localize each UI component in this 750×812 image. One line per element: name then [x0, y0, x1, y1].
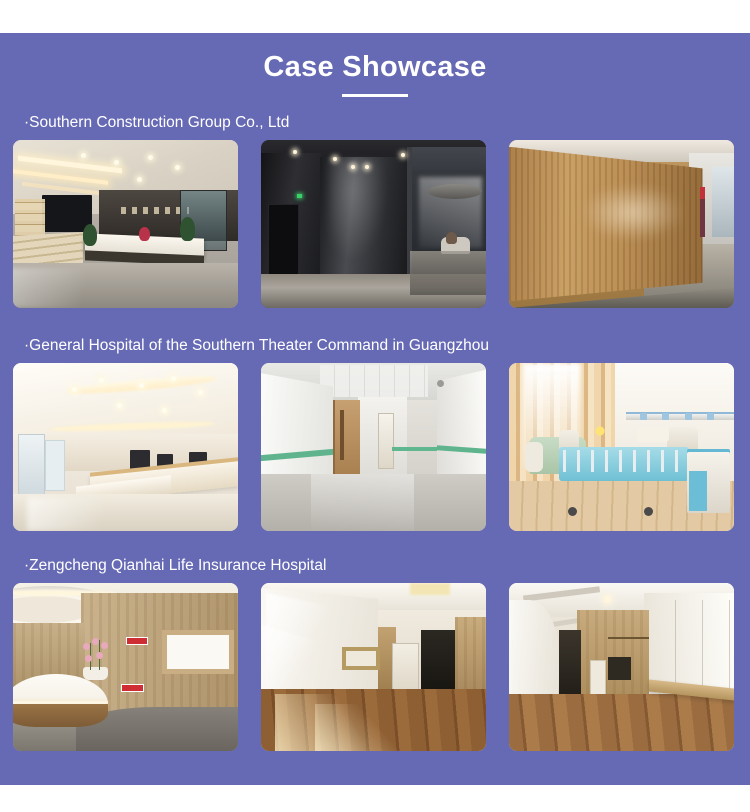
photo-hospital-ward-bed[interactable]: [509, 363, 734, 531]
section-label: ·Southern Construction Group Co., Ltd: [0, 112, 750, 134]
scene-curved-reception: [13, 583, 238, 751]
scene-hospital-corridor: [261, 363, 486, 531]
photo-hospital-corridor[interactable]: [261, 363, 486, 531]
section-zengcheng-qianhai: ·Zengcheng Qianhai Life Insurance Hospit…: [0, 555, 750, 751]
photo-hospital-nurse-station[interactable]: [13, 363, 238, 531]
scene-hospital-ward: [509, 363, 734, 531]
scene-nurse-station: [13, 363, 238, 531]
section-label: ·Zengcheng Qianhai Life Insurance Hospit…: [0, 555, 750, 577]
title-underline: [342, 94, 408, 97]
photo-grid: [0, 357, 750, 531]
scene-office-lobby: [13, 140, 238, 308]
section-general-hospital: ·General Hospital of the Southern Theate…: [0, 335, 750, 531]
page-title: Case Showcase: [263, 47, 486, 87]
scene-sunlit-room: [261, 583, 486, 751]
scene-dark-elevator-lobby: [261, 140, 486, 308]
scene-wood-room: [509, 583, 734, 751]
page-title-block: Case Showcase: [0, 47, 750, 97]
photo-grid: [0, 577, 750, 751]
photo-wood-panel-room-bench[interactable]: [509, 583, 734, 751]
photo-wood-panel-corridor[interactable]: [509, 140, 734, 308]
case-showcase-page: Case Showcase ·Southern Construction Gro…: [0, 0, 750, 812]
section-southern-construction: ·Southern Construction Group Co., Ltd: [0, 112, 750, 308]
photo-office-lobby-reception[interactable]: [13, 140, 238, 308]
photo-grid: [0, 134, 750, 308]
photo-dark-elevator-lobby[interactable]: [261, 140, 486, 308]
section-label: ·General Hospital of the Southern Theate…: [0, 335, 750, 357]
photo-curved-wood-reception[interactable]: [13, 583, 238, 751]
photo-sunlit-empty-room[interactable]: [261, 583, 486, 751]
scene-wood-corridor: [509, 140, 734, 308]
